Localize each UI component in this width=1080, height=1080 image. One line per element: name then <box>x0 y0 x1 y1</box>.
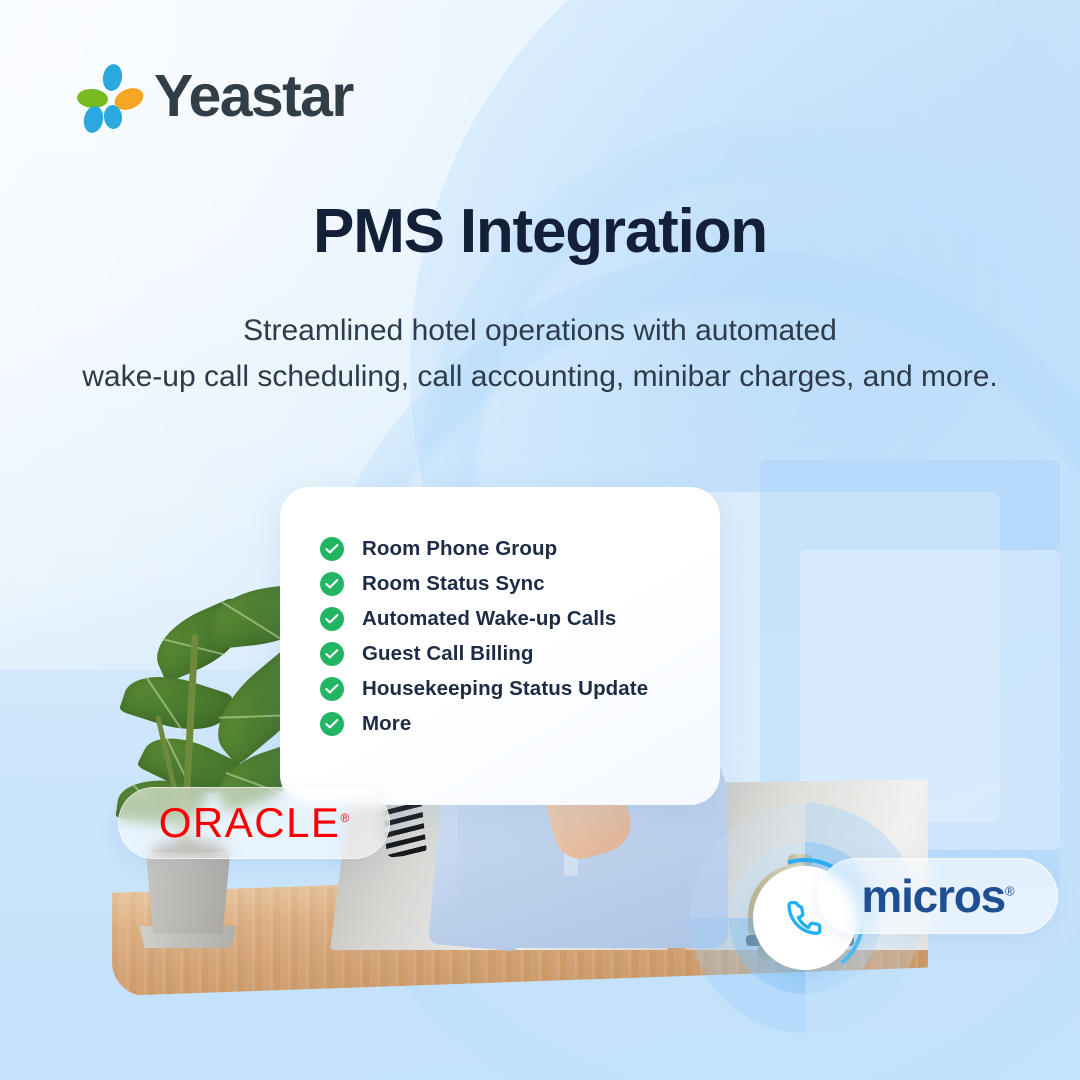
micros-wordmark-text: micros <box>861 870 1005 922</box>
check-circle-icon <box>320 572 344 596</box>
list-item: Automated Wake-up Calls <box>320 607 648 631</box>
list-item: Housekeeping Status Update <box>320 677 648 701</box>
list-item: Room Phone Group <box>320 537 648 561</box>
subtitle-line-1: Streamlined hotel operations with automa… <box>0 308 1080 354</box>
feature-label: Automated Wake-up Calls <box>362 607 616 631</box>
partner-badge-micros[interactable]: micros® <box>818 858 1058 934</box>
plant-pot <box>140 852 236 934</box>
logo-wordmark: Yeastar <box>154 67 353 126</box>
feature-label: Housekeeping Status Update <box>362 677 648 701</box>
feature-list: Room Phone Group Room Status Sync <box>320 537 648 747</box>
check-circle-icon <box>320 537 344 561</box>
check-mark-icon <box>325 648 339 660</box>
partner-badge-oracle[interactable]: ORACLE® <box>118 787 390 859</box>
yeastar-petal-logo-icon <box>78 62 140 130</box>
check-circle-icon <box>320 712 344 736</box>
check-mark-icon <box>325 718 339 730</box>
check-mark-icon <box>325 543 339 555</box>
oracle-wordmark: ORACLE® <box>159 802 350 844</box>
feature-card: Room Phone Group Room Status Sync <box>280 487 720 805</box>
micros-wordmark: micros® <box>861 873 1014 919</box>
check-circle-icon <box>320 642 344 666</box>
yeastar-logo[interactable]: Yeastar <box>78 62 353 130</box>
list-item: Room Status Sync <box>320 572 648 596</box>
micros-trademark-icon: ® <box>1005 884 1015 899</box>
feature-label: Guest Call Billing <box>362 642 534 666</box>
petal-bottom-icon <box>81 104 105 134</box>
oracle-wordmark-text: ORACLE <box>159 799 341 846</box>
list-item: Guest Call Billing <box>320 642 648 666</box>
page-title: PMS Integration <box>0 196 1080 267</box>
feature-label: Room Status Sync <box>362 572 545 596</box>
check-circle-icon <box>320 677 344 701</box>
poster-canvas: Yeastar PMS Integration Streamlined hote… <box>0 0 1080 1080</box>
subtitle-line-2: wake-up call scheduling, call accounting… <box>0 354 1080 400</box>
check-circle-icon <box>320 607 344 631</box>
feature-label: More <box>362 712 411 736</box>
feature-label: Room Phone Group <box>362 537 557 561</box>
page-subtitle: Streamlined hotel operations with automa… <box>0 308 1080 399</box>
check-mark-icon <box>325 683 339 695</box>
oracle-trademark-icon: ® <box>340 811 349 825</box>
list-item: More <box>320 712 648 736</box>
check-mark-icon <box>325 613 339 625</box>
check-mark-icon <box>325 578 339 590</box>
petal-top-icon <box>101 63 124 93</box>
